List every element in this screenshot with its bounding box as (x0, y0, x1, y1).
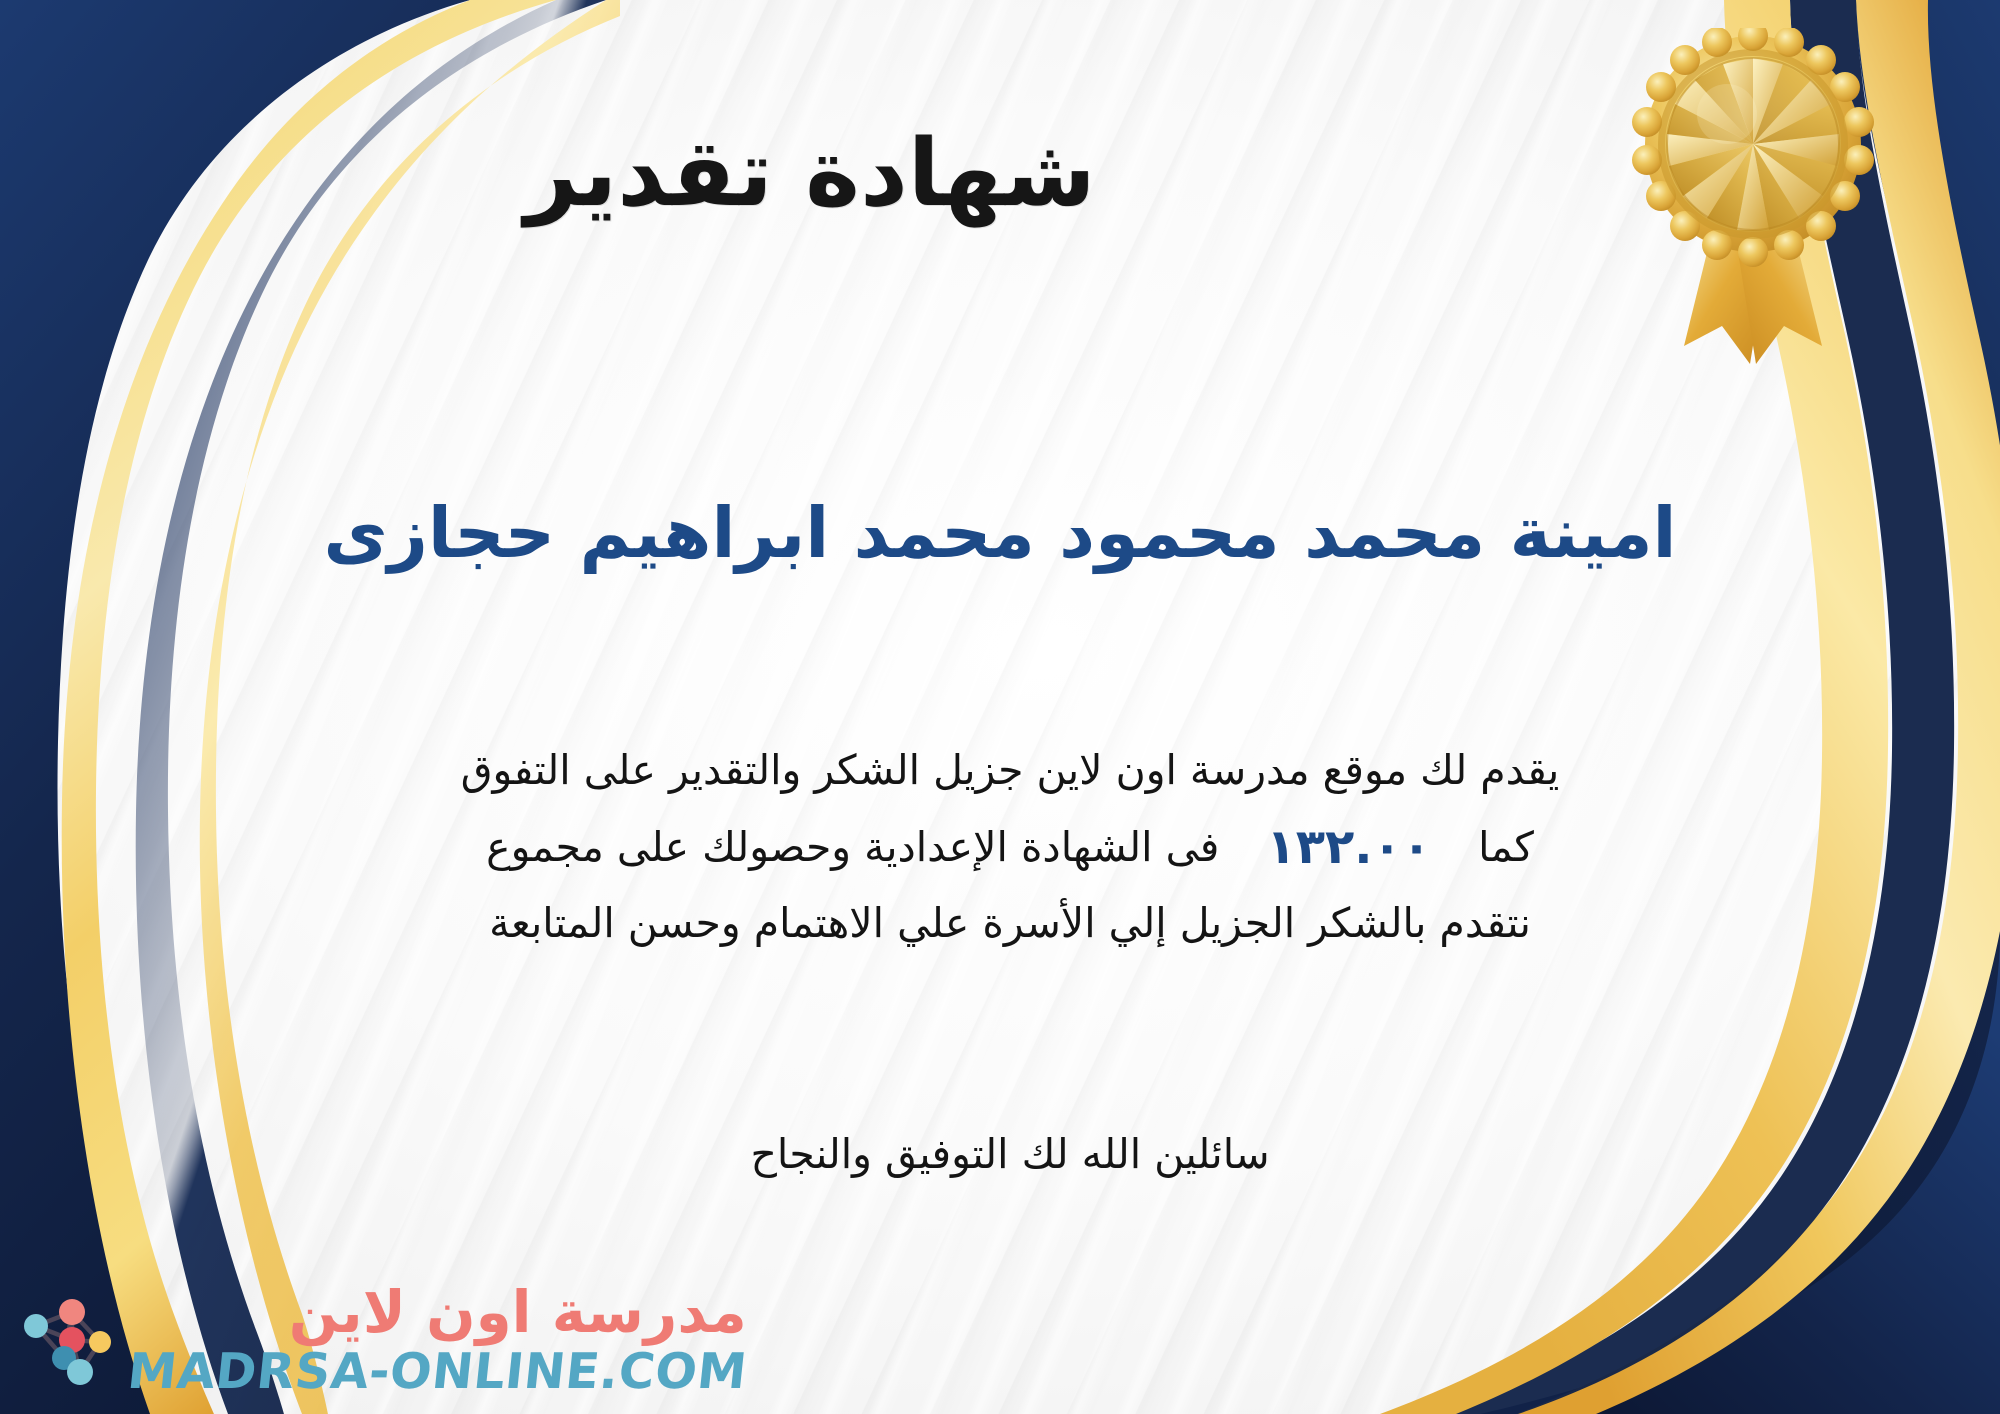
page-title: شهادة تقدير (0, 118, 2000, 230)
body-line-1: يقدم لك موقع مدرسة اون لاين جزيل الشكر و… (140, 735, 1880, 806)
certificate-content: شهادة تقدير امينة محمد محمود محمد ابراهي… (0, 0, 2000, 1414)
certificate-page: شهادة تقدير امينة محمد محمود محمد ابراهي… (0, 0, 2000, 1414)
body-line-2-prefix: فى الشهادة الإعدادية وحصولك على مجموع (486, 823, 1219, 871)
site-logo[interactable]: مدرسة اون لاين MADRSA-ONLINE.COM (22, 1283, 747, 1396)
certificate-body: يقدم لك موقع مدرسة اون لاين جزيل الشكر و… (140, 735, 1880, 959)
grade-total-value: ١٣٢.٠٠ (1232, 806, 1465, 889)
brand-website-url[interactable]: MADRSA-ONLINE.COM (125, 1347, 749, 1396)
brand-text-group: مدرسة اون لاين MADRSA-ONLINE.COM (128, 1283, 747, 1396)
brand-arabic-name: مدرسة اون لاين (289, 1283, 747, 1341)
recipient-name: امينة محمد محمود محمد ابراهيم حجازى (90, 490, 1910, 578)
closing-wish-line: سائلين الله لك التوفيق والنجاح (140, 1130, 1880, 1178)
body-line-2-suffix: كما (1478, 823, 1534, 871)
body-line-3: نتقدم بالشكر الجزيل إلي الأسرة علي الاهت… (140, 888, 1880, 959)
network-nodes-icon (22, 1288, 114, 1392)
body-line-2: كما ١٣٢.٠٠ فى الشهادة الإعدادية وحصولك ع… (140, 806, 1880, 889)
